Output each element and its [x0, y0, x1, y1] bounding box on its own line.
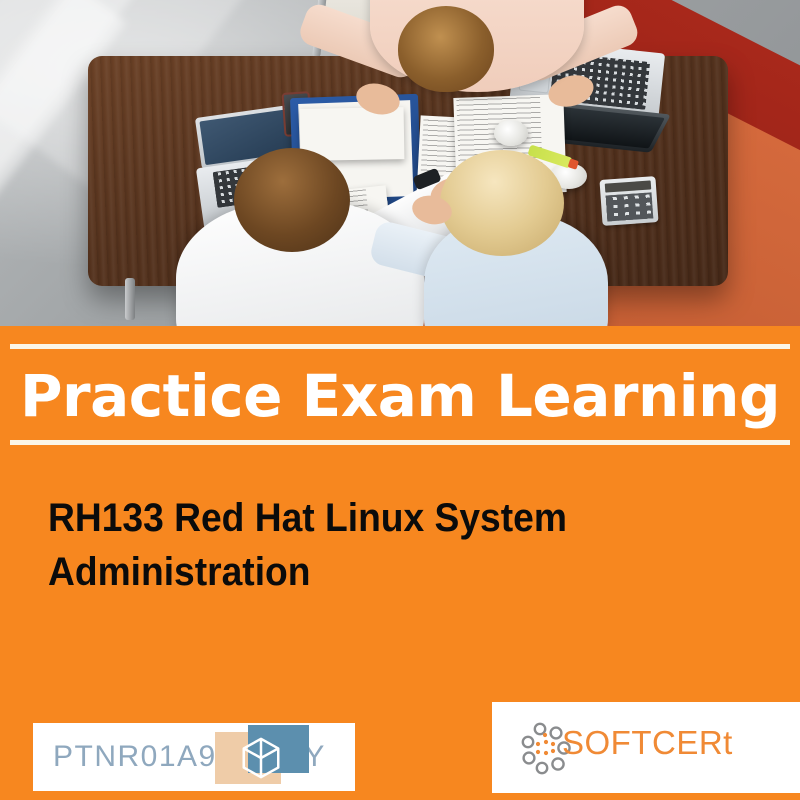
softcert-logo-inner: SOFTCERt: [518, 720, 774, 776]
exam-title-line-2: Administration: [48, 545, 606, 599]
banner-rule-top: [10, 344, 790, 349]
softcert-logo-text: SOFTCERt: [562, 724, 733, 762]
hair: [440, 150, 564, 256]
hair: [398, 6, 494, 92]
cube-icon: [238, 735, 284, 781]
hair: [234, 148, 350, 252]
exam-title-line-1: RH133 Red Hat Linux System: [48, 491, 606, 545]
coffee-cup: [494, 120, 528, 146]
hero-photo: [0, 0, 800, 326]
exam-title: RH133 Red Hat Linux System Administratio…: [48, 491, 606, 599]
calculator-buttons: [606, 192, 654, 221]
calculator: [599, 176, 658, 226]
softcert-text-main: SOFTCER: [562, 724, 723, 761]
softcert-text-tail: t: [723, 724, 733, 761]
ptnr-logo: PTNR01A998WXY: [33, 723, 355, 791]
table-leg: [125, 278, 135, 320]
poster-root: Practice Exam Learning RH133 Red Hat Lin…: [0, 0, 800, 800]
softcert-logo: SOFTCERt: [492, 702, 800, 793]
banner-heading: Practice Exam Learning: [0, 356, 800, 436]
calculator-display: [605, 180, 652, 192]
banner-rule-bottom: [10, 440, 790, 445]
banner: Practice Exam Learning: [0, 326, 800, 453]
